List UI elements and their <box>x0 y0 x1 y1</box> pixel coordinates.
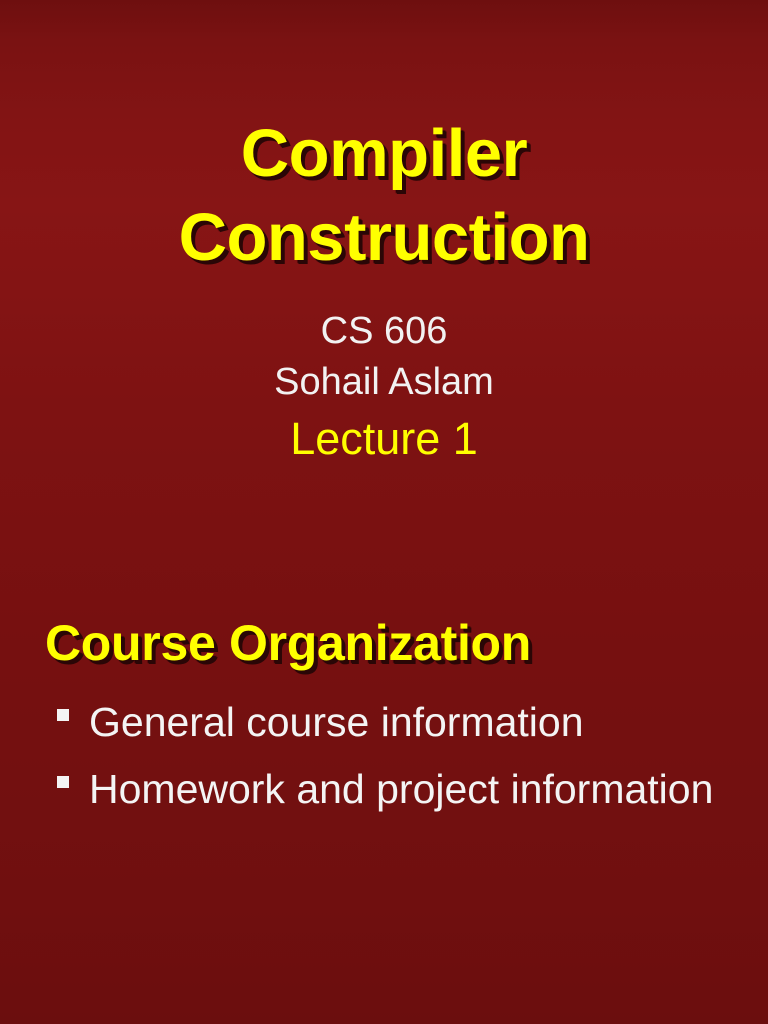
instructor-name: Sohail Aslam <box>0 357 768 408</box>
square-bullet-icon <box>57 776 69 788</box>
list-item: Homework and project information <box>56 761 716 818</box>
slide-title-line-2: Construction <box>0 196 768 280</box>
slide-title-block: Compiler Construction <box>0 112 768 280</box>
section-heading: Course Organization <box>45 612 531 674</box>
bullet-list: General course information Homework and … <box>56 694 716 828</box>
square-bullet-icon <box>57 709 69 721</box>
presentation-slide: Compiler Construction CS 606 Sohail Asla… <box>0 0 768 1024</box>
list-item: General course information <box>56 694 716 751</box>
slide-title-line-1: Compiler <box>0 112 768 196</box>
list-item-label: General course information <box>89 694 716 751</box>
course-code: CS 606 <box>0 306 768 357</box>
lecture-number: Lecture 1 <box>0 410 768 468</box>
slide-subtitle-block: CS 606 Sohail Aslam Lecture 1 <box>0 306 768 468</box>
list-item-label: Homework and project information <box>89 761 716 818</box>
